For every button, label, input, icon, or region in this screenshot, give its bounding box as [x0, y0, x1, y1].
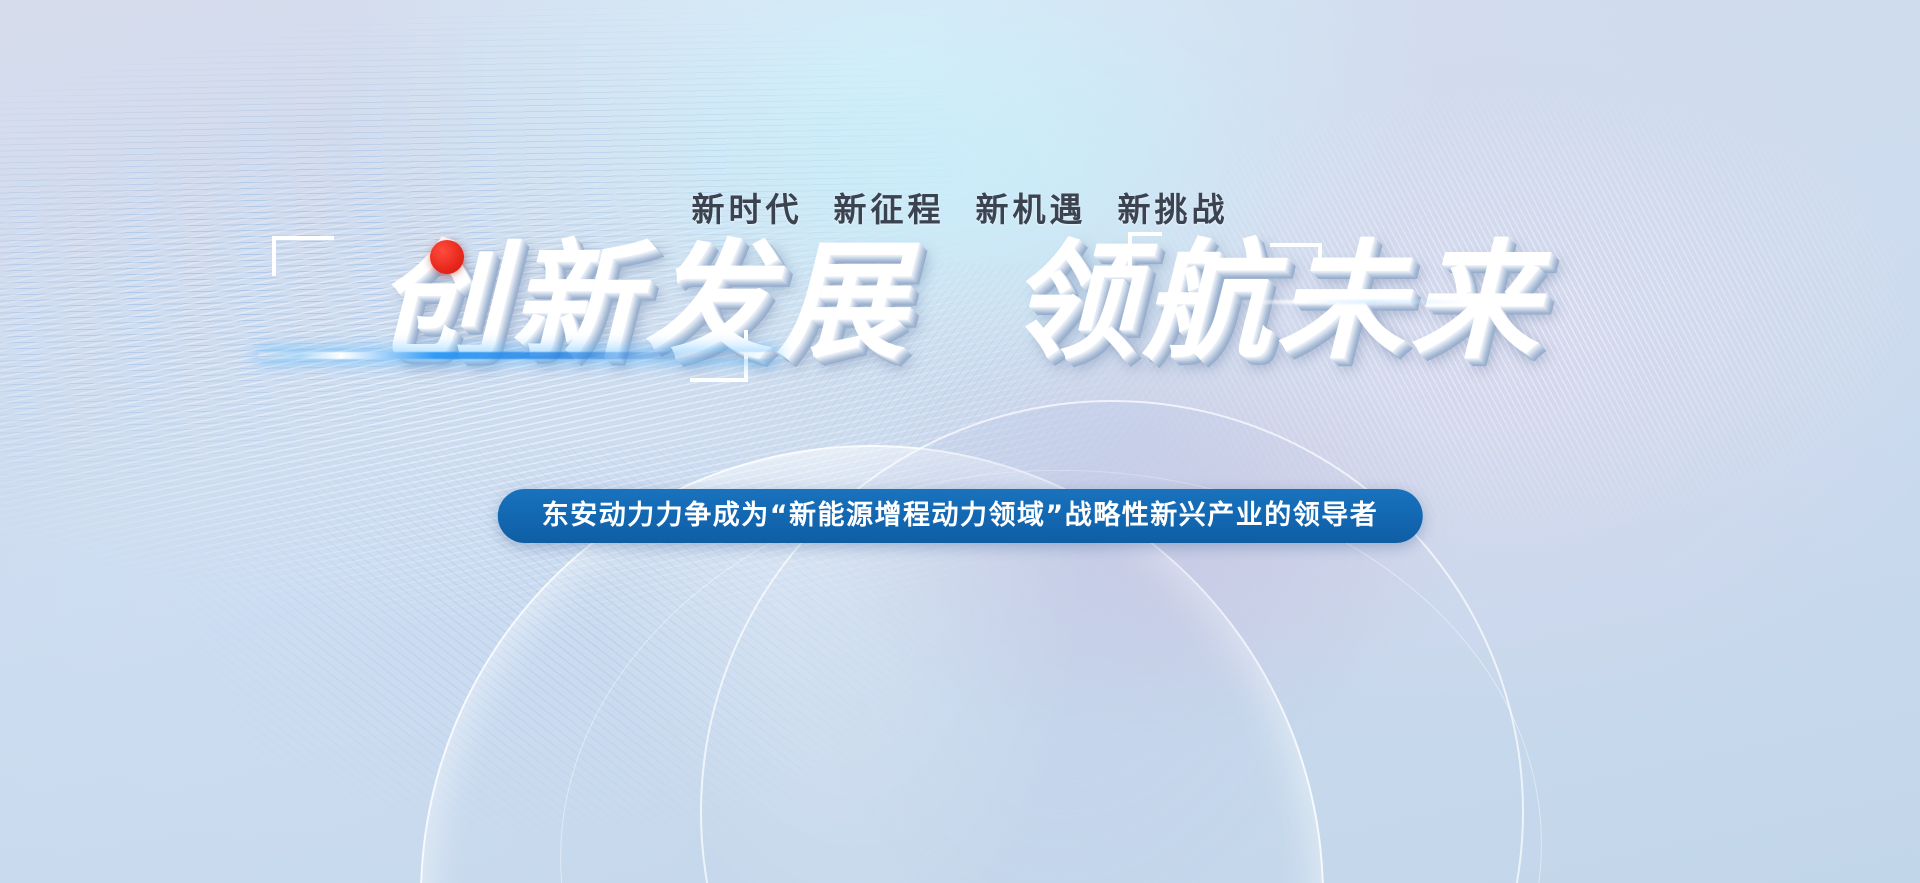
bracket-top-left-icon [272, 236, 334, 276]
red-dot-accent-icon [430, 240, 464, 274]
promotional-banner: 新时代 新征程 新机遇 新挑战 创新发展 领航未来 东安动力力争成为“新能源增程… [0, 0, 1920, 883]
headline-spacer [912, 228, 1009, 377]
mission-statement-pill: 东安动力力争成为“新能源增程动力领域”战略性新兴产业的领导者 [498, 489, 1423, 543]
bracket-top-left-2-icon [1128, 232, 1162, 266]
blue-glow-streak [258, 352, 778, 359]
eyebrow-slogan: 新时代 新征程 新机遇 新挑战 [0, 183, 1920, 231]
banner-content: 新时代 新征程 新机遇 新挑战 创新发展 领航未来 东安动力力争成为“新能源增程… [0, 0, 1920, 883]
bracket-top-right-2-icon [1270, 243, 1322, 269]
white-glow-streak [1230, 300, 1470, 304]
